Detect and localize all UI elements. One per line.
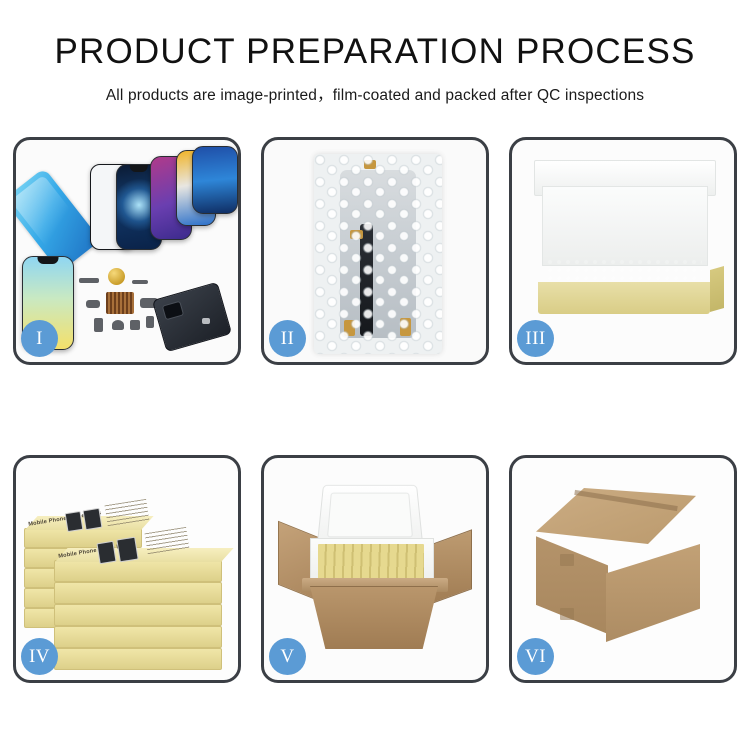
notch-icon — [130, 165, 148, 172]
carton-tape-patch — [560, 554, 574, 566]
phone-front-d — [192, 146, 238, 214]
foam-backing-sheet — [542, 186, 708, 266]
page-subtitle: All products are image-printed，film-coat… — [0, 83, 750, 105]
step-badge-2: II — [269, 320, 306, 357]
phone-back-housing — [152, 282, 232, 353]
step-badge-3: III — [517, 320, 554, 357]
process-step-5: V — [261, 455, 489, 683]
small-part — [202, 318, 210, 324]
box-label-phone-image — [116, 537, 138, 563]
process-step-2: II — [261, 137, 489, 365]
box-label-phone-image — [96, 541, 116, 564]
stacked-box — [54, 604, 222, 626]
notch-icon — [38, 257, 59, 264]
small-part — [79, 278, 99, 283]
step-badge-6: VI — [517, 638, 554, 675]
step-badge-4: IV — [21, 638, 58, 675]
small-part — [132, 280, 148, 284]
small-part — [112, 320, 124, 330]
stacked-box — [54, 560, 222, 582]
small-part — [94, 318, 103, 332]
stacked-box — [54, 648, 222, 670]
process-step-6: VI — [509, 455, 737, 683]
camera-ring-part — [108, 268, 125, 285]
process-step-4: Mobile Phone Spare Parts Mobile Phone Sp… — [13, 455, 241, 683]
bubble-wrap-bag — [314, 154, 442, 354]
page-title: PRODUCT PREPARATION PROCESS — [0, 34, 750, 71]
box-label-phone-image — [83, 508, 103, 530]
page-header: PRODUCT PREPARATION PROCESS All products… — [0, 0, 750, 105]
carton-body — [310, 586, 438, 649]
small-part — [146, 316, 154, 328]
small-part — [86, 300, 100, 308]
carton-tape-patch — [560, 608, 574, 620]
stacked-box — [54, 582, 222, 604]
step-badge-5: V — [269, 638, 306, 675]
stacked-box — [54, 626, 222, 648]
box-stack: Mobile Phone Spare Parts Mobile Phone Sp… — [24, 484, 236, 662]
process-step-1: I — [13, 137, 241, 365]
grey-foam-insert — [546, 258, 702, 284]
box-label-phone-image — [65, 511, 84, 532]
process-step-3: III — [509, 137, 737, 365]
yellow-box-front — [538, 282, 710, 314]
carton-right-face — [606, 544, 700, 642]
small-part — [130, 320, 140, 330]
bubble-texture — [314, 154, 442, 354]
step-badge-1: I — [21, 320, 58, 357]
process-step-grid: I II III — [13, 137, 737, 683]
connector-chip-part — [106, 292, 134, 314]
yellow-boxes-inside — [318, 544, 424, 582]
yellow-box-side — [710, 266, 724, 312]
